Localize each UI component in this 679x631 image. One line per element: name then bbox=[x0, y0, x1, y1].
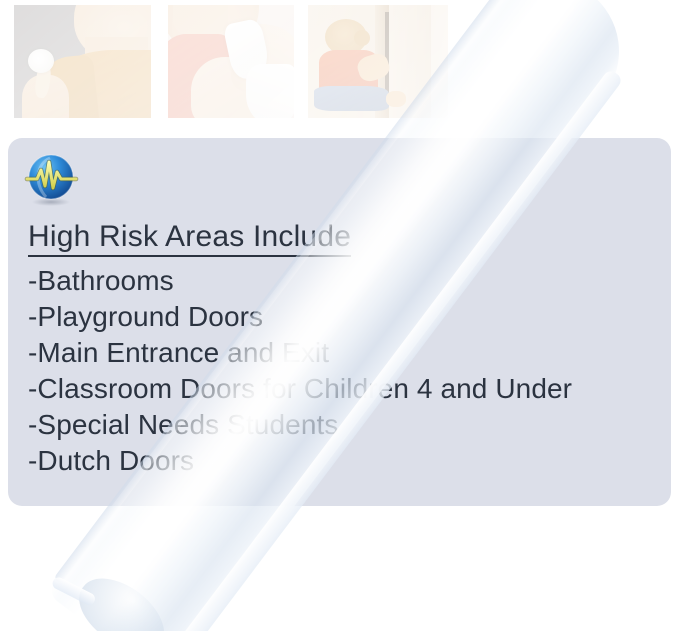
high-risk-areas-panel: High Risk Areas Include -Bathrooms -Play… bbox=[8, 138, 671, 506]
guard-open-profile-tip bbox=[41, 501, 233, 631]
high-risk-areas-list: -Bathrooms -Playground Doors -Main Entra… bbox=[28, 263, 658, 479]
product-usage-photos bbox=[0, 0, 679, 128]
list-item: -Dutch Doors bbox=[28, 443, 658, 479]
photo-hands-wrapping-bandage bbox=[168, 5, 294, 118]
list-item: -Classroom Doors for Children 4 and Unde… bbox=[28, 371, 658, 407]
list-item: -Special Needs Students bbox=[28, 407, 658, 443]
product-infographic: High Risk Areas Include -Bathrooms -Play… bbox=[0, 0, 679, 631]
list-item: -Bathrooms bbox=[28, 263, 658, 299]
list-item: -Playground Doors bbox=[28, 299, 658, 335]
list-item: -Main Entrance and Exit bbox=[28, 335, 658, 371]
photo-toddler-at-door-hinge bbox=[308, 5, 448, 118]
panel-title: High Risk Areas Include bbox=[28, 220, 351, 257]
photo-child-bandaged-finger bbox=[14, 5, 151, 118]
pulse-waveform-globe-icon bbox=[24, 152, 80, 208]
